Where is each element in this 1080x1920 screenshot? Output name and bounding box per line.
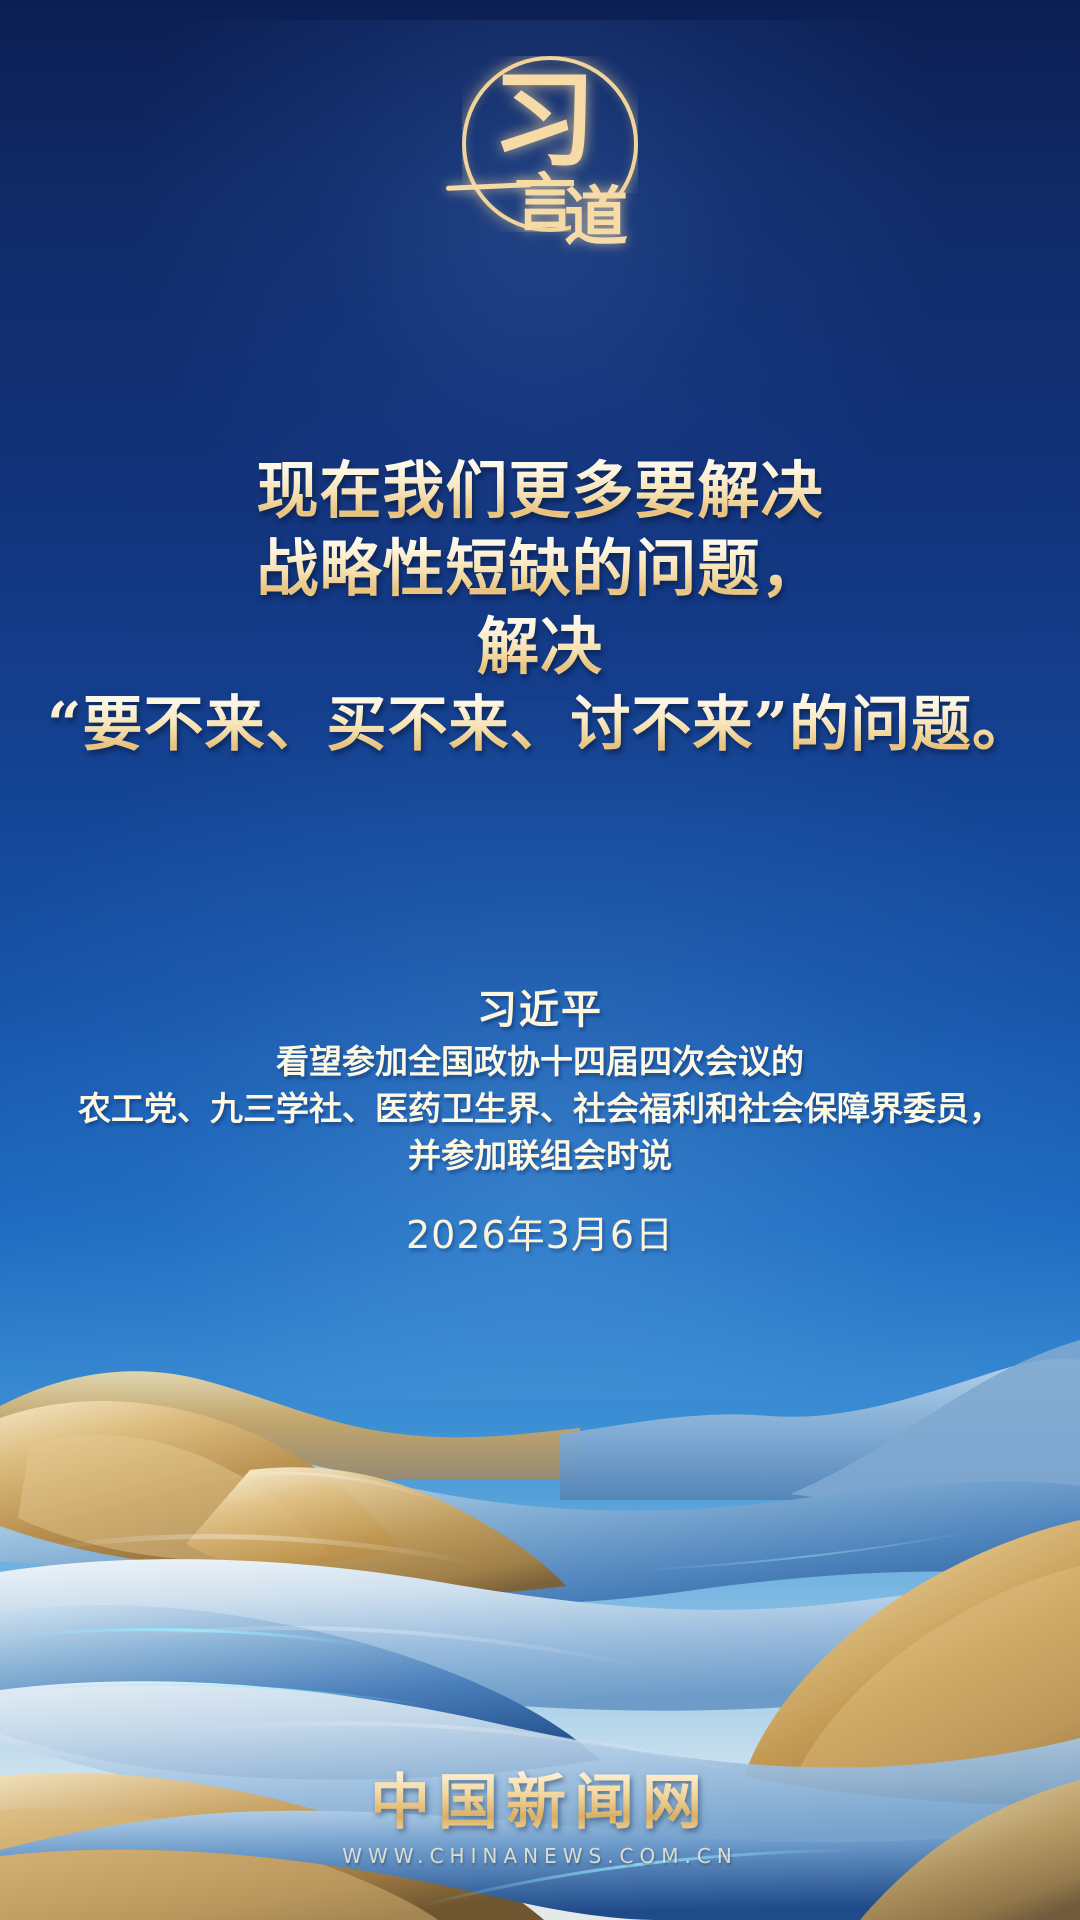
footer-brand: 中国新闻网 WWW.CHINANEWS.COM.CN bbox=[0, 1768, 1080, 1868]
attribution-line-1: 看望参加全国政协十四届四次会议的 bbox=[0, 1038, 1080, 1085]
quote-line-2: 战略性短缺的问题， bbox=[0, 530, 1080, 608]
brand-logo: 习 言 道 bbox=[0, 52, 1080, 252]
quote-line-3: 解决 bbox=[0, 608, 1080, 686]
quote-block: 现在我们更多要解决 战略性短缺的问题， 解决 “要不来、买不来、讨不来”的问题。 bbox=[0, 452, 1080, 764]
brand-url: WWW.CHINANEWS.COM.CN bbox=[0, 1844, 1080, 1868]
logo-char-xi: 习 bbox=[492, 68, 596, 172]
attribution-line-2: 农工党、九三学社、医药卫生界、社会福利和社会保障界委员， bbox=[0, 1085, 1080, 1132]
logo-char-dao: 道 bbox=[564, 186, 628, 250]
poster-canvas: 习 言 道 现在我们更多要解决 战略性短缺的问题， 解决 “要不来、买不来、讨不… bbox=[0, 0, 1080, 1920]
quote-line-4: “要不来、买不来、讨不来”的问题。 bbox=[0, 686, 1080, 764]
quote-line-1: 现在我们更多要解决 bbox=[0, 452, 1080, 530]
speaker-name: 习近平 bbox=[0, 982, 1080, 1038]
logo-mark: 习 言 道 bbox=[440, 52, 640, 252]
brand-name: 中国新闻网 bbox=[0, 1768, 1080, 1838]
attribution-line-3: 并参加联组会时说 bbox=[0, 1132, 1080, 1179]
